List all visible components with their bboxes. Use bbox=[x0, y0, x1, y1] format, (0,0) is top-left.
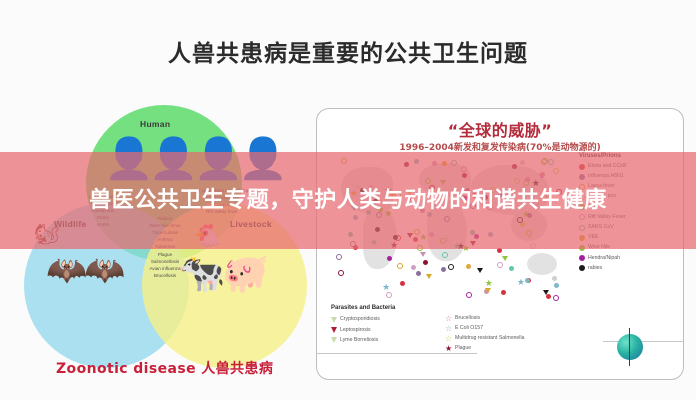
map-marker-dot bbox=[411, 265, 416, 270]
legend-swatch-star: ★ bbox=[445, 346, 452, 352]
legend-swatch-dot bbox=[579, 255, 585, 261]
map-marker-dot bbox=[387, 256, 392, 261]
map-marker-dot bbox=[400, 281, 405, 286]
zoonotic-disease-label: Zoonotic disease 人兽共患病 bbox=[56, 358, 273, 378]
map-marker-triangle bbox=[485, 288, 491, 293]
map-marker-dot bbox=[552, 276, 557, 281]
parasite-legend-heading: Parasites and Bacteria bbox=[331, 305, 443, 313]
map-marker-star: ★ bbox=[517, 278, 525, 287]
legend-swatch-star: ☆ bbox=[445, 336, 452, 342]
map-marker-triangle bbox=[502, 256, 508, 261]
map-marker-ring bbox=[553, 295, 559, 301]
legend-swatch-dot bbox=[579, 265, 585, 271]
legend-item-label: Cryptosporidiosis bbox=[340, 317, 380, 322]
map-marker-ring bbox=[448, 264, 454, 270]
map-marker-ring bbox=[338, 270, 344, 276]
map-marker-dot bbox=[509, 266, 514, 271]
map-marker-dot bbox=[441, 267, 446, 272]
legend-item-label: Brucellosis bbox=[455, 316, 480, 321]
legend-item: ☆E Coli O157 bbox=[445, 325, 615, 332]
legend-swatch-triangle bbox=[331, 317, 337, 323]
legend-item: rabies bbox=[579, 265, 677, 272]
map-marker-star: ★ bbox=[485, 279, 493, 288]
globe-icon bbox=[617, 334, 643, 360]
legend-item-label: Multidrug resistant Salmonella bbox=[455, 336, 525, 341]
overlay-headline: 兽医公共卫生专题，守护人类与动物的和谐共生健康 bbox=[0, 152, 696, 249]
legend-item: Leptospirosis bbox=[331, 327, 443, 334]
map-marker-ring bbox=[442, 252, 448, 258]
map-marker-triangle bbox=[420, 252, 426, 257]
map-marker-dot bbox=[546, 294, 551, 299]
bat-bird-deer-silhouette-icon: 🦇🦇 bbox=[46, 253, 122, 286]
map-marker-dot bbox=[423, 260, 428, 265]
cow-pig-silhouette-icon: 🐄🐖 bbox=[178, 255, 267, 293]
legend-item: ☆Multidrug resistant Salmonella bbox=[445, 335, 615, 342]
legend-swatch-triangle bbox=[331, 337, 337, 343]
infographic-screenshot: 人兽共患病是重要的公共卫生问题 Human Wildlife Livestock… bbox=[0, 0, 696, 400]
map-marker-ring bbox=[336, 254, 342, 260]
map-marker-dot bbox=[525, 278, 530, 283]
legend-item-label: rabies bbox=[588, 266, 602, 271]
map-marker-dot bbox=[416, 271, 421, 276]
map-marker-ring bbox=[466, 292, 472, 298]
map-marker-ring bbox=[497, 262, 503, 268]
legend-item-label: Hendra/Nipah bbox=[588, 256, 620, 261]
legend-item-label: E Coli O157 bbox=[455, 326, 483, 331]
legend-swatch-star: ☆ bbox=[445, 316, 452, 322]
panel-title: “全球的威胁” bbox=[317, 117, 683, 141]
map-marker-dot bbox=[501, 290, 506, 295]
legend-swatch-triangle bbox=[331, 327, 337, 333]
map-marker-dot bbox=[466, 264, 471, 269]
map-marker-ring bbox=[386, 292, 392, 298]
legend-item: Cryptosporidiosis bbox=[331, 317, 443, 324]
legend-item-label: Lyme Borreliosis bbox=[340, 338, 378, 343]
page-title: 人兽共患病是重要的公共卫生问题 bbox=[0, 34, 696, 68]
legend-item-label: Plague bbox=[455, 346, 471, 351]
legend-item: ★Plague bbox=[445, 346, 615, 353]
map-marker-triangle bbox=[477, 268, 483, 273]
venn-label-human: Human bbox=[140, 119, 170, 129]
map-marker-ring bbox=[397, 263, 403, 269]
legend-item-label: Leptospirosis bbox=[340, 328, 371, 333]
bacteria-legend: ☆Brucellosis☆E Coli O157☆Multidrug resis… bbox=[445, 315, 615, 356]
legend-swatch-star: ☆ bbox=[445, 326, 452, 332]
legend-item: ☆Brucellosis bbox=[445, 315, 615, 322]
parasite-legend: Parasites and Bacteria Cryptosporidiosis… bbox=[331, 305, 443, 347]
legend-item: Hendra/Nipah bbox=[579, 255, 677, 262]
map-marker-triangle bbox=[426, 274, 432, 279]
map-marker-star: ★ bbox=[382, 283, 390, 292]
map-marker-dot bbox=[554, 283, 559, 288]
legend-item: Lyme Borreliosis bbox=[331, 337, 443, 344]
